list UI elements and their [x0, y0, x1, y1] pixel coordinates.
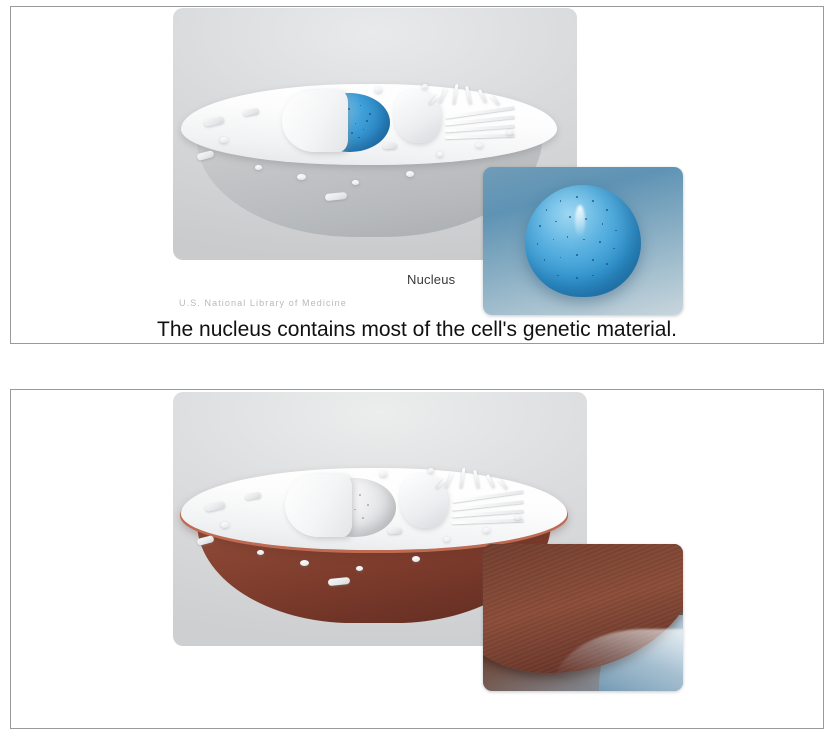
nucleus-closeup-inset — [483, 167, 683, 315]
panel-nucleus: Nucleus U.S. National Library of Medicin… — [10, 6, 824, 344]
caption-nucleus: The nucleus contains most of the cell's … — [11, 318, 823, 342]
organelle-label-nucleus: Nucleus — [407, 272, 455, 287]
attribution-text: U.S. National Library of Medicine — [179, 298, 347, 308]
plasma-membrane-closeup-inset — [483, 544, 683, 691]
nucleus-closeup-sphere — [525, 185, 641, 297]
cytoskeleton-spikes — [433, 84, 518, 140]
illustration-stage-nucleus — [173, 7, 693, 312]
illustration-stage-membrane — [173, 390, 693, 695]
panel-plasma-membrane: Plasma membrane U.S. National Library of… — [10, 389, 824, 729]
nucleus-white-shell — [285, 474, 353, 537]
specular-highlight — [575, 205, 585, 238]
nucleus-white-shell — [282, 90, 348, 152]
cytoskeleton-spikes — [440, 468, 527, 525]
